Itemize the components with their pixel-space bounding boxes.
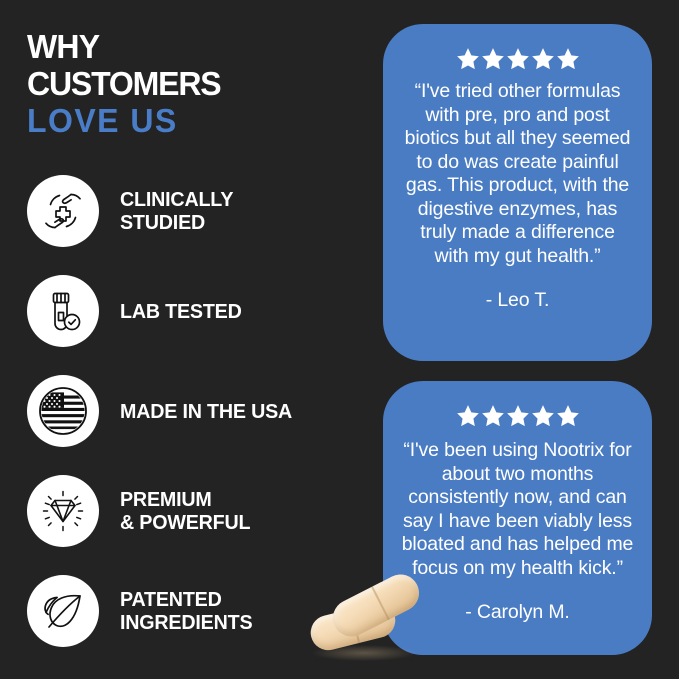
- product-capsules-image: [306, 575, 436, 663]
- usa-flag-icon: [27, 375, 99, 447]
- star-icon: [530, 46, 556, 72]
- headline-line-2: CUSTOMERS: [27, 65, 362, 102]
- capsule-seam: [371, 586, 390, 620]
- star-icon: [455, 403, 481, 429]
- star-icon: [505, 403, 531, 429]
- star-rating: [397, 44, 638, 74]
- headline-line-3: LOVE US: [27, 102, 362, 139]
- left-column: WHY CUSTOMERS LOVE US C: [27, 28, 372, 653]
- page-title: WHY CUSTOMERS LOVE US: [27, 28, 362, 139]
- review-author: - Leo T.: [397, 289, 638, 312]
- star-icon: [530, 403, 556, 429]
- hands-heart-cross-icon: [27, 175, 99, 247]
- feature-label: LAB TESTED: [120, 300, 242, 323]
- star-icon: [555, 403, 581, 429]
- feature-label: PATENTEDINGREDIENTS: [120, 588, 252, 634]
- review-text: “I've tried other formulas with pre, pro…: [397, 80, 638, 268]
- star-icon: [480, 403, 506, 429]
- star-icon: [505, 46, 531, 72]
- infographic-root: WHY CUSTOMERS LOVE US C: [0, 0, 679, 679]
- test-tube-check-icon: [27, 275, 99, 347]
- review-text: “I've been using Nootrix for about two m…: [397, 439, 638, 580]
- star-rating: [397, 401, 638, 431]
- feature-item-lab-tested: LAB TESTED: [27, 261, 372, 361]
- leaf-icon: [27, 575, 99, 647]
- feature-item-premium-powerful: PREMIUM& POWERFUL: [27, 461, 372, 561]
- star-icon: [455, 46, 481, 72]
- star-icon: [555, 46, 581, 72]
- diamond-sparkle-icon: [27, 475, 99, 547]
- feature-item-made-in-usa: MADE IN THE USA: [27, 361, 372, 461]
- feature-label: PREMIUM& POWERFUL: [120, 488, 250, 534]
- feature-label: MADE IN THE USA: [120, 400, 292, 423]
- headline-line-1: WHY: [27, 28, 362, 65]
- review-card: “I've tried other formulas with pre, pro…: [383, 24, 652, 361]
- feature-item-clinically-studied: CLINICALLYSTUDIED: [27, 161, 372, 261]
- feature-label: CLINICALLYSTUDIED: [120, 188, 233, 234]
- star-icon: [480, 46, 506, 72]
